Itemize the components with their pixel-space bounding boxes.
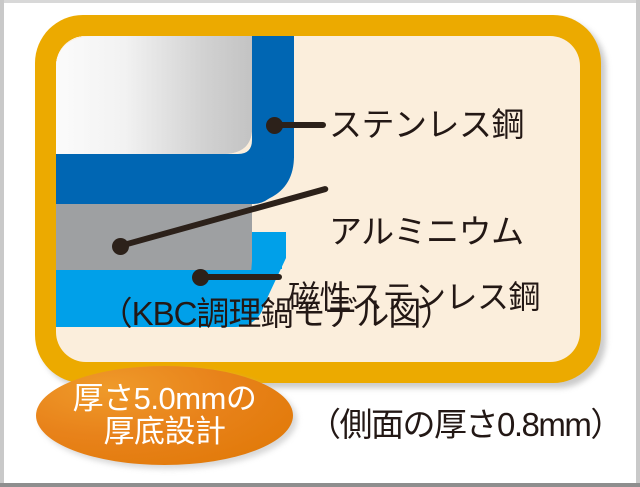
page-border-bottom <box>0 483 640 487</box>
page-border-right <box>636 0 640 487</box>
leader-dot-aluminium <box>112 238 129 255</box>
side-thickness-note: （側面の厚さ0.8mm） <box>308 408 622 441</box>
badge-line-1: 厚さ5.0mmの <box>73 383 257 416</box>
label-aluminium: アルミニウム <box>329 215 524 248</box>
leader-dot-magnetic <box>192 269 209 286</box>
label-stainless-steel: ステンレス鋼 <box>329 108 524 141</box>
page-border-left <box>0 0 4 487</box>
leader-line-magnetic <box>200 274 282 280</box>
page-border-top <box>0 0 640 3</box>
badge-line-2: 厚底設計 <box>104 416 226 449</box>
leader-dot-stainless <box>266 117 283 134</box>
diagram-caption: （KBC調理鍋モデル図） <box>56 297 496 330</box>
thickness-badge: 厚さ5.0mmの 厚底設計 <box>36 366 293 465</box>
poster-canvas: ステンレス鋼 アルミニウム 磁性ステンレス鋼 （KBC調理鍋モデル図） 厚さ5.… <box>0 0 640 487</box>
